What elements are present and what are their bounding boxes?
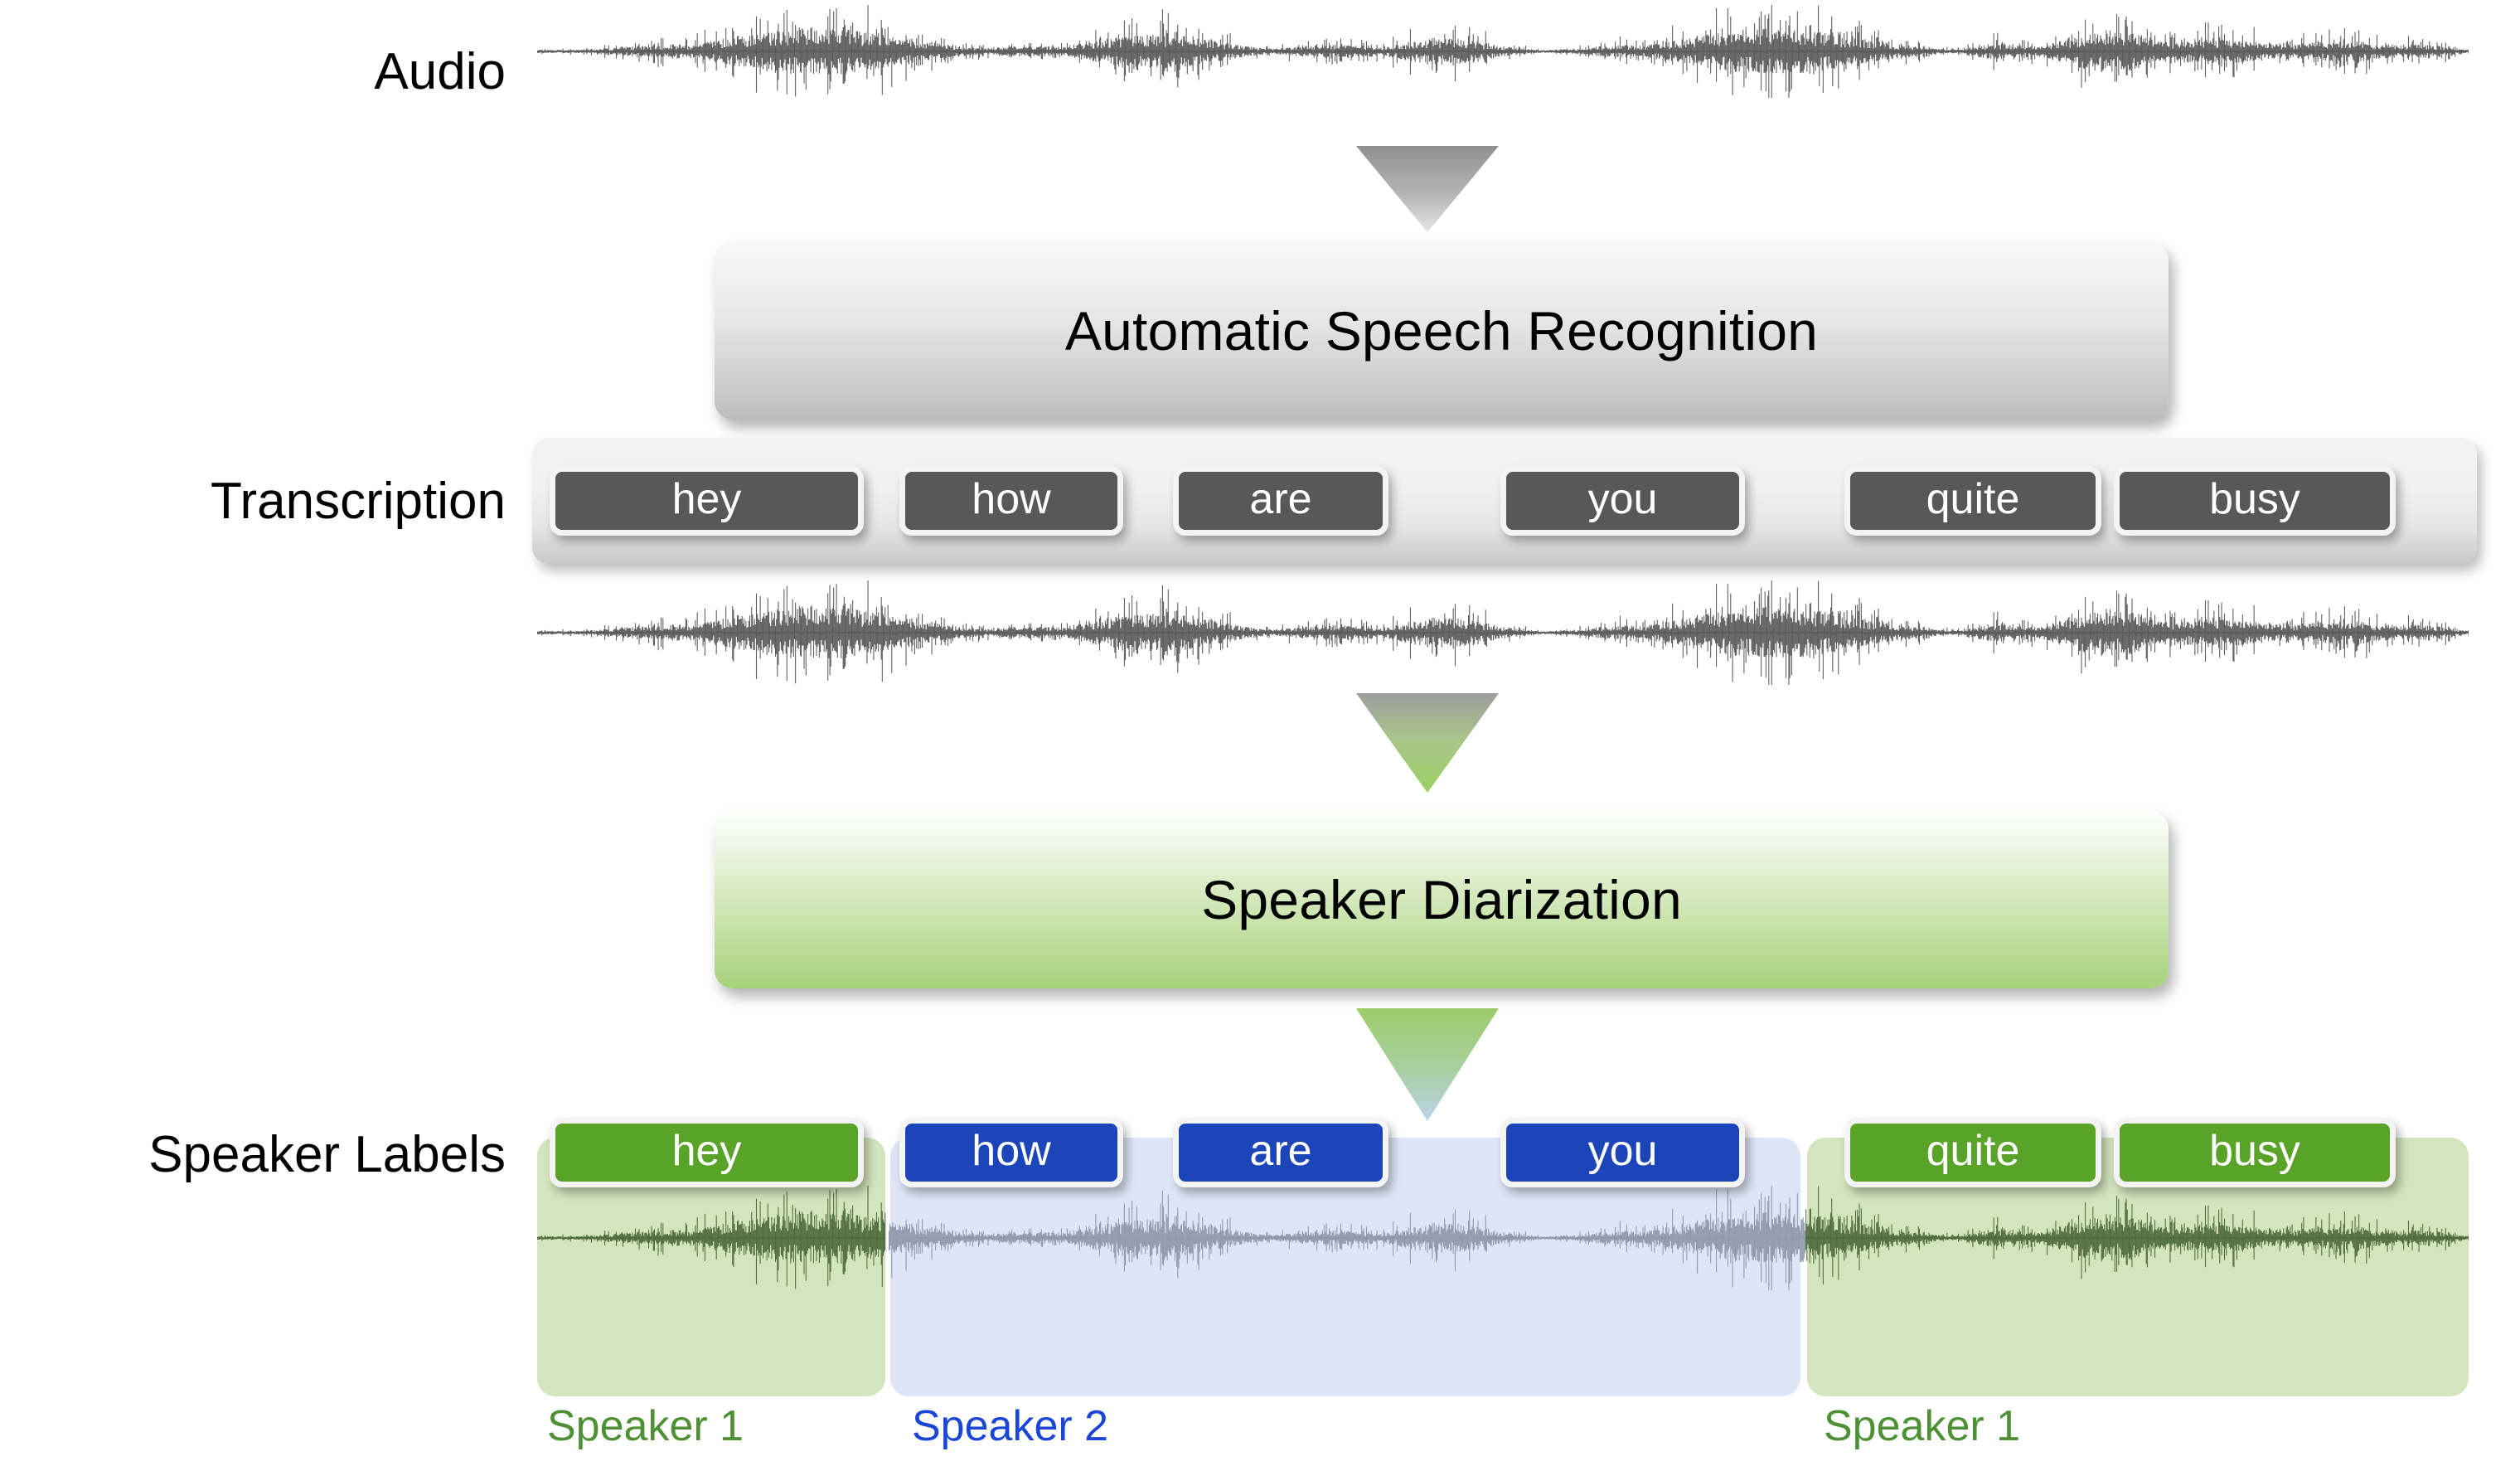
asr-process-label: Automatic Speech Recognition <box>1065 299 1818 362</box>
speaker-word-label: quite <box>1926 1129 2020 1172</box>
transcription-word-chip[interactable]: how <box>899 466 1123 536</box>
speaker-segment-caption: Speaker 1 <box>547 1405 744 1448</box>
diarization-process-box[interactable]: Speaker Diarization <box>715 811 2169 988</box>
waveform-icon-transcription <box>537 580 2469 685</box>
speaker-word-chip[interactable]: you <box>1500 1118 1745 1187</box>
row-label-transcription: Transcription <box>211 476 506 527</box>
asr-process-box[interactable]: Automatic Speech Recognition <box>715 242 2169 420</box>
speaker-word-label: how <box>972 1129 1050 1172</box>
waveform-icon-speaker-labels <box>537 1186 2469 1290</box>
transcription-word-chip[interactable]: hey <box>550 466 864 536</box>
speaker-word-chip[interactable]: quite <box>1844 1118 2101 1187</box>
transcription-word-chip[interactable]: you <box>1500 466 1745 536</box>
transcription-word-label: you <box>1588 478 1658 521</box>
transcription-word-label: are <box>1249 478 1311 521</box>
arrow-down-icon-asr <box>1356 146 1499 232</box>
transcription-word-chip[interactable]: are <box>1173 466 1388 536</box>
speaker-word-chip[interactable]: how <box>899 1118 1123 1187</box>
waveform-icon-audio <box>537 5 2469 98</box>
speaker-word-chip[interactable]: are <box>1173 1118 1388 1187</box>
transcription-word-label: quite <box>1926 478 2020 521</box>
speaker-word-chip[interactable]: hey <box>550 1118 864 1187</box>
diarization-process-label: Speaker Diarization <box>1201 868 1682 931</box>
speaker-word-label: busy <box>2209 1129 2300 1172</box>
row-label-speaker-labels: Speaker Labels <box>148 1129 506 1181</box>
speaker-segment-caption: Speaker 1 <box>1824 1405 2020 1448</box>
speaker-word-label: hey <box>672 1129 742 1172</box>
arrow-down-icon-diarization <box>1356 693 1499 793</box>
diagram-canvas: Audio Automatic Speech Recognition Trans… <box>0 0 2520 1466</box>
arrow-down-icon-speaker-labels <box>1356 1008 1499 1121</box>
transcription-word-label: hey <box>672 478 742 521</box>
transcription-word-chip[interactable]: busy <box>2114 466 2396 536</box>
speaker-word-label: are <box>1249 1129 1311 1172</box>
transcription-word-label: busy <box>2209 478 2300 521</box>
speaker-word-chip[interactable]: busy <box>2114 1118 2396 1187</box>
speaker-segment-caption: Speaker 2 <box>912 1405 1108 1448</box>
transcription-word-label: how <box>972 478 1050 521</box>
transcription-word-chip[interactable]: quite <box>1844 466 2101 536</box>
row-label-audio: Audio <box>374 46 506 98</box>
speaker-word-label: you <box>1588 1129 1658 1172</box>
